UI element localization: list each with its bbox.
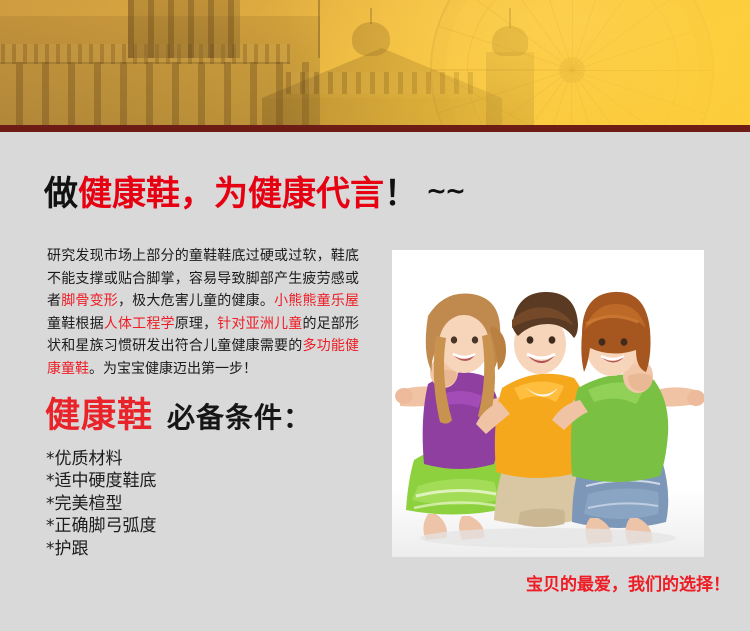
banner-haze-overlay <box>0 0 750 125</box>
banner-bottom-rule <box>0 125 750 132</box>
body-segment-5: 人体工程学 <box>104 316 175 332</box>
header-banner-image <box>0 0 750 125</box>
body-segment-10: 。为宝宝健康迈出第一步！ <box>89 361 257 377</box>
requirement-item: *适中硬度鞋底 <box>46 470 157 492</box>
requirements-subhead: 健康鞋必备条件： <box>45 396 312 442</box>
body-segment-3: 小熊熊童乐屋 <box>274 293 359 309</box>
headline-prefix: 做 <box>44 174 78 214</box>
headline-suffix: ！ <box>384 174 418 214</box>
requirement-item: *护跟 <box>46 538 157 560</box>
product-detail-page: 做健康鞋，为健康代言！~~ 研究发现市场上部分的童鞋鞋底过硬或过软，鞋底不能支撑… <box>0 0 750 631</box>
body-segment-4: 童鞋根据 <box>47 316 104 332</box>
body-segment-6: 原理， <box>175 316 218 332</box>
footer-tagline: 宝贝的最爱，我们的选择！ <box>526 570 730 595</box>
requirement-item: *正确脚弓弧度 <box>46 515 157 537</box>
children-illustration <box>392 250 704 557</box>
headline-highlight: 健康鞋，为健康代言 <box>78 174 384 214</box>
subhead-red-text: 健康鞋 <box>45 396 153 436</box>
children-photo <box>392 250 704 557</box>
body-segment-1: 脚骨变形 <box>61 293 118 309</box>
requirement-item: *优质材料 <box>46 448 157 470</box>
body-segment-7: 针对亚洲儿童 <box>217 316 302 332</box>
requirement-item: *完美楦型 <box>46 493 157 515</box>
body-segment-2: ，极大危害儿童的健康。 <box>118 293 274 309</box>
page-headline: 做健康鞋，为健康代言！~~ <box>44 170 464 215</box>
body-paragraph: 研究发现市场上部分的童鞋鞋底过硬或过软，鞋底不能支撑或贴合脚掌，容易导致脚部产生… <box>47 245 359 380</box>
subhead-black-text: 必备条件： <box>153 401 312 434</box>
headline-tildes: ~~ <box>418 176 464 205</box>
requirements-list: *优质材料*适中硬度鞋底*完美楦型*正确脚弓弧度*护跟 <box>46 448 157 560</box>
